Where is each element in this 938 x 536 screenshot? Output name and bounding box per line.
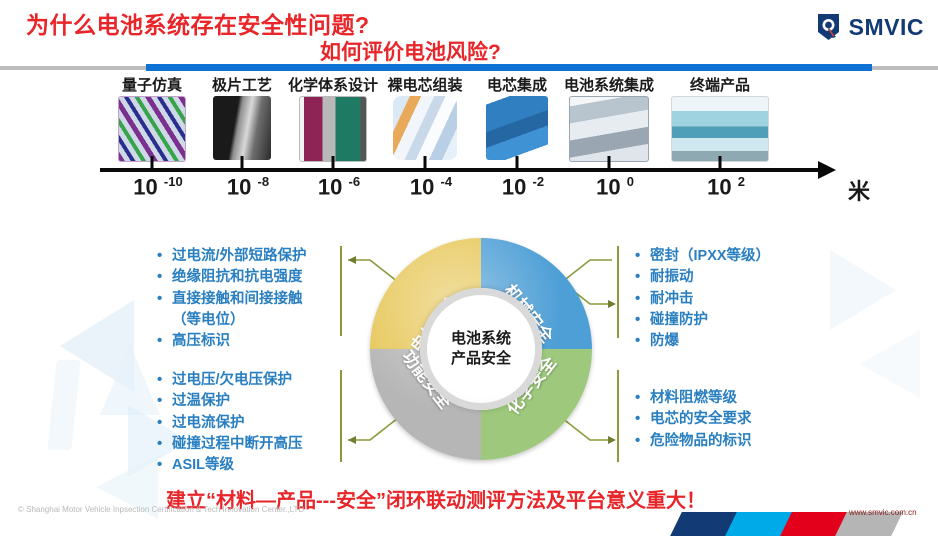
timeline-axis-line: [100, 168, 820, 172]
list-item: 密封（IPXX等级）: [633, 246, 770, 267]
list-item: 碰撞防护: [633, 310, 770, 331]
list-item: 高压标识: [155, 331, 307, 352]
timeline-scale-4: 10 -2: [502, 174, 544, 200]
bracket-chemical: [617, 370, 619, 462]
bullet-block-mechanical: 密封（IPXX等级）耐振动耐冲击碰撞防护防爆: [633, 246, 770, 353]
electrode-chemistry-image: [299, 96, 367, 162]
bracket-mechanical: [617, 246, 619, 338]
list-item: （等电位）: [155, 310, 307, 331]
battery-pack-image: [569, 96, 649, 162]
timeline-stage-label-3: 裸电芯组装: [387, 74, 462, 95]
watermark-triangle-6: [860, 330, 920, 398]
donut-center-line1: 电池系统: [451, 329, 511, 349]
bullet-block-electrical: 过电流/外部短路保护绝缘阻抗和抗电强度直接接触和间接接触（等电位）高压标识: [155, 246, 307, 353]
sem-electrode-image: [213, 96, 271, 160]
cell-stack-image: [393, 96, 457, 160]
timeline-thumbnails: [0, 96, 938, 162]
timeline-scale-2: 10 -6: [318, 174, 360, 200]
list-item: 过电压/欠电压保护: [155, 370, 303, 391]
timeline-stage-label-4: 电芯集成: [487, 74, 547, 95]
list-item: 危险物品的标识: [633, 431, 752, 452]
timeline-tick-4: [516, 156, 519, 169]
list-item: 耐振动: [633, 267, 770, 288]
list-item: 材料阻燃等级: [633, 388, 752, 409]
prismatic-cells-image: [486, 96, 548, 160]
copyright-text: © Shanghai Motor Vehicle Inpsection Cert…: [18, 505, 304, 514]
bullet-block-functional: 过电压/欠电压保护过温保护过电流保护碰撞过程中断开高压ASIL等级: [155, 370, 303, 477]
bracket-functional: [340, 370, 342, 462]
page-subtitle: 如何评价电池风险?: [320, 36, 501, 66]
timeline-axis-arrow-icon: [818, 161, 836, 179]
timeline-stage-label-1: 极片工艺: [212, 74, 272, 95]
electric-bus-image: [671, 96, 769, 162]
timeline-tick-3: [424, 156, 427, 169]
list-item: 防爆: [633, 331, 770, 352]
bracket-electrical: [340, 246, 342, 336]
page-title: 为什么电池系统存在安全性问题?: [26, 6, 370, 40]
safety-donut-diagram: 电气安全 机械安全 功能安全 化学安全 电池系统 产品安全: [370, 238, 592, 460]
header-divider-blue: [146, 64, 872, 71]
slide-root: 为什么电池系统存在安全性问题? 如何评价电池风险? SMVIC 量子仿真极片工艺…: [0, 0, 938, 536]
timeline-tick-5: [608, 156, 611, 169]
watermark-triangle-5: [830, 250, 896, 330]
timeline-tick-0: [151, 156, 154, 169]
donut-center-line2: 产品安全: [451, 349, 511, 369]
timeline-scale-0: 10 -10: [133, 174, 182, 200]
crystal-structure-image: [118, 96, 186, 162]
timeline-tick-1: [241, 156, 244, 169]
timeline-tick-2: [332, 156, 335, 169]
smvic-logo: SMVIC: [815, 12, 924, 42]
smvic-shield-q-logo-icon: [815, 12, 842, 42]
list-item: 过电流/外部短路保护: [155, 246, 307, 267]
timeline-stage-label-0: 量子仿真: [122, 74, 182, 95]
list-item: 绝缘阻抗和抗电强度: [155, 267, 307, 288]
list-item: 过温保护: [155, 391, 303, 412]
donut-center: 电池系统 产品安全: [420, 288, 542, 410]
list-item: 直接接触和间接接触: [155, 289, 307, 310]
list-item: ASIL等级: [155, 455, 303, 476]
timeline-tick-6: [719, 156, 722, 169]
list-item: 过电流保护: [155, 413, 303, 434]
timeline-stage-label-2: 化学体系设计: [288, 74, 378, 95]
bullet-block-chemical: 材料阻燃等级电芯的安全要求危险物品的标识: [633, 388, 752, 452]
timeline-stage-label-5: 电池系统集成: [564, 74, 654, 95]
timeline-stage-label-6: 终端产品: [690, 74, 750, 95]
timeline-scale-5: 10 0: [596, 174, 634, 200]
timeline-scale-6: 10 2: [707, 174, 745, 200]
timeline-scale-1: 10 -8: [227, 174, 269, 200]
timeline-labels: 量子仿真极片工艺化学体系设计裸电芯组装电芯集成电池系统集成终端产品: [0, 74, 938, 96]
timeline-unit-label: 米: [848, 174, 870, 206]
timeline-scale-3: 10 -4: [410, 174, 452, 200]
smvic-logo-text: SMVIC: [849, 14, 924, 41]
watermark-bar: [47, 360, 80, 450]
list-item: 电芯的安全要求: [633, 409, 752, 430]
list-item: 耐冲击: [633, 289, 770, 310]
website-url: www.smvic.com.cn: [849, 508, 917, 517]
list-item: 碰撞过程中断开高压: [155, 434, 303, 455]
